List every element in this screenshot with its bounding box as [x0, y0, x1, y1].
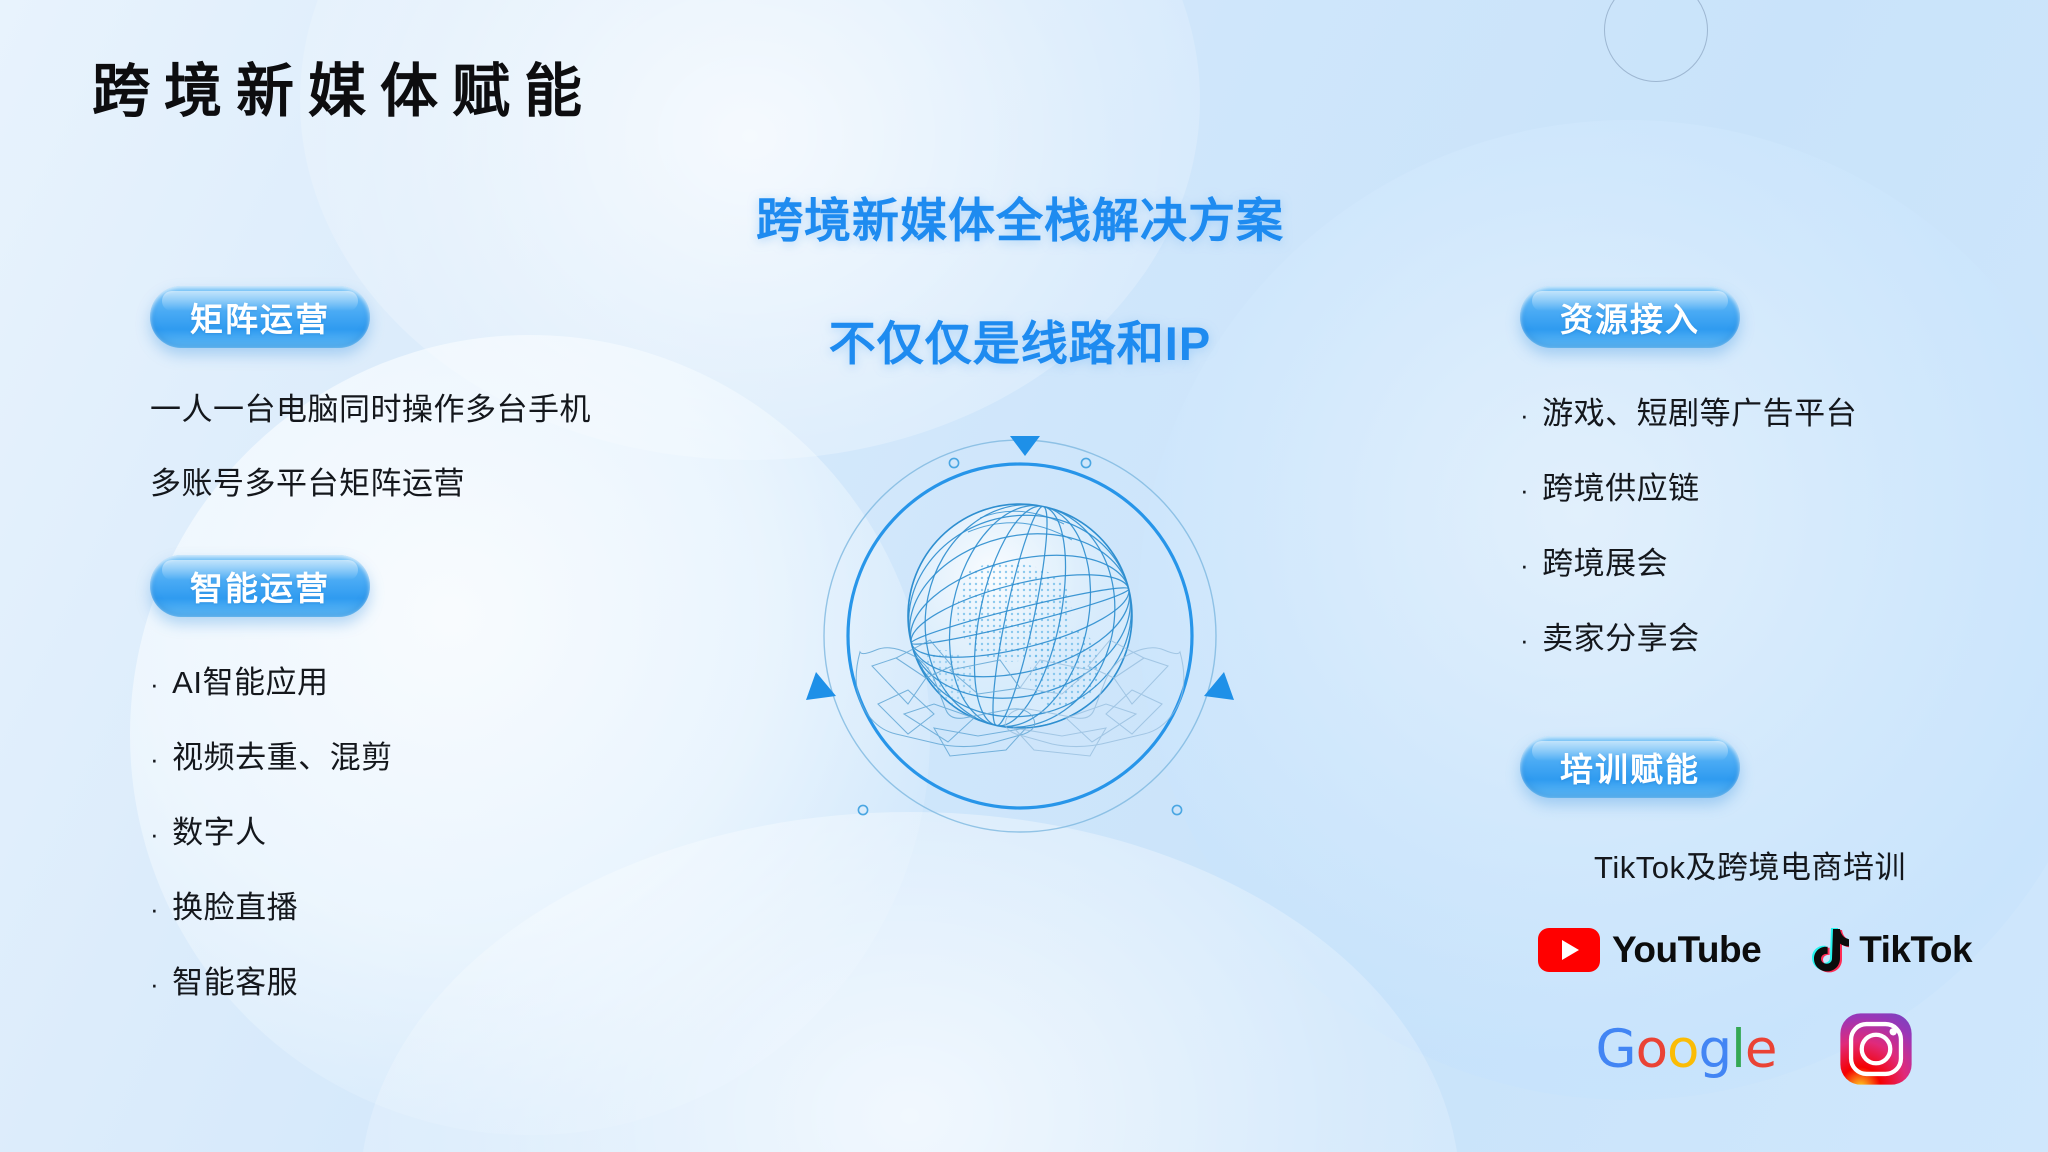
bullet-dot-icon: · — [1520, 402, 1529, 428]
list-item-label: 跨境展会 — [1542, 538, 1668, 583]
instagram-logo[interactable] — [1838, 1011, 1914, 1087]
list-item: · 智能客服 — [150, 957, 770, 1002]
tiktok-label: TikTok — [1859, 929, 1972, 971]
list-item: · 数字人 — [150, 807, 770, 852]
google-letter-l: l — [1731, 1019, 1745, 1080]
list-item-label: 智能客服 — [172, 957, 298, 1002]
bullet-dot-icon: · — [150, 971, 159, 997]
page-title: 跨境新媒体赋能 — [92, 44, 596, 128]
google-letter-g2: g — [1698, 1019, 1731, 1080]
google-letter-o2: o — [1667, 1019, 1698, 1080]
left-bullet-list: · AI智能应用 · 视频去重、混剪 · 数字人 · 换脸直播 · 智能客服 — [150, 657, 770, 1002]
list-item-label: 视频去重、混剪 — [172, 732, 393, 777]
list-item: · 卖家分享会 — [1520, 613, 2040, 658]
badge-resource-access[interactable]: 资源接入 — [1520, 286, 1740, 348]
list-item-label: 换脸直播 — [172, 882, 298, 927]
logo-row-primary: YouTube TikTok — [1520, 927, 1990, 973]
list-item: · AI智能应用 — [150, 657, 770, 702]
center-heading: 跨境新媒体全栈解决方案 — [620, 182, 1420, 251]
list-item: · 游戏、短剧等广告平台 — [1520, 388, 2040, 433]
list-item-label: 游戏、短剧等广告平台 — [1542, 388, 1857, 433]
badge-training-empowerment[interactable]: 培训赋能 — [1520, 736, 1740, 798]
list-item: · 跨境供应链 — [1520, 463, 2040, 508]
slide-canvas: 跨境新媒体赋能 跨境新媒体全栈解决方案 不仅仅是线路和IP — [0, 0, 2048, 1152]
list-item-label: 数字人 — [172, 807, 267, 852]
left-paragraph-2: 多账号多平台矩阵运营 — [150, 464, 770, 504]
badge-matrix-operations[interactable]: 矩阵运营 — [150, 286, 370, 348]
list-item-label: 跨境供应链 — [1542, 463, 1700, 508]
left-paragraph-1: 一人一台电脑同时操作多台手机 — [150, 390, 770, 430]
training-description: TikTok及跨境电商培训 — [1520, 842, 1980, 887]
badge-smart-operations[interactable]: 智能运营 — [150, 555, 370, 617]
google-letter-e: e — [1745, 1019, 1777, 1080]
decorative-ring — [1604, 0, 1708, 82]
bullet-dot-icon: · — [1520, 477, 1529, 503]
list-item-label: 卖家分享会 — [1542, 613, 1700, 658]
google-letter-g1: G — [1596, 1019, 1636, 1080]
right-column: 资源接入 · 游戏、短剧等广告平台 · 跨境供应链 · 跨境展会 · 卖家分享会… — [1520, 286, 2040, 1087]
tiktok-logo[interactable]: TikTok — [1807, 927, 1972, 973]
bullet-dot-icon: · — [1520, 627, 1529, 653]
bullet-dot-icon: · — [150, 671, 159, 697]
list-item: · 视频去重、混剪 — [150, 732, 770, 777]
bullet-dot-icon: · — [150, 746, 159, 772]
google-letter-o1: o — [1636, 1019, 1667, 1080]
bullet-dot-icon: · — [150, 821, 159, 847]
youtube-label: YouTube — [1612, 929, 1761, 971]
tiktok-note-icon — [1807, 927, 1849, 973]
bullet-dot-icon: · — [150, 896, 159, 922]
right-bullet-list: · 游戏、短剧等广告平台 · 跨境供应链 · 跨境展会 · 卖家分享会 — [1520, 388, 2040, 658]
list-item: · 换脸直播 — [150, 882, 770, 927]
list-item-label: AI智能应用 — [172, 657, 328, 702]
left-column: 矩阵运营 一人一台电脑同时操作多台手机 多账号多平台矩阵运营 智能运营 · AI… — [150, 286, 770, 1032]
bullet-dot-icon: · — [1520, 552, 1529, 578]
youtube-play-icon — [1538, 928, 1600, 972]
logo-row-secondary: G o o g l e — [1520, 1011, 1990, 1087]
google-logo[interactable]: G o o g l e — [1596, 1019, 1777, 1080]
globe-in-hands-illustration — [800, 420, 1240, 840]
list-item: · 跨境展会 — [1520, 538, 2040, 583]
youtube-logo[interactable]: YouTube — [1538, 928, 1761, 972]
